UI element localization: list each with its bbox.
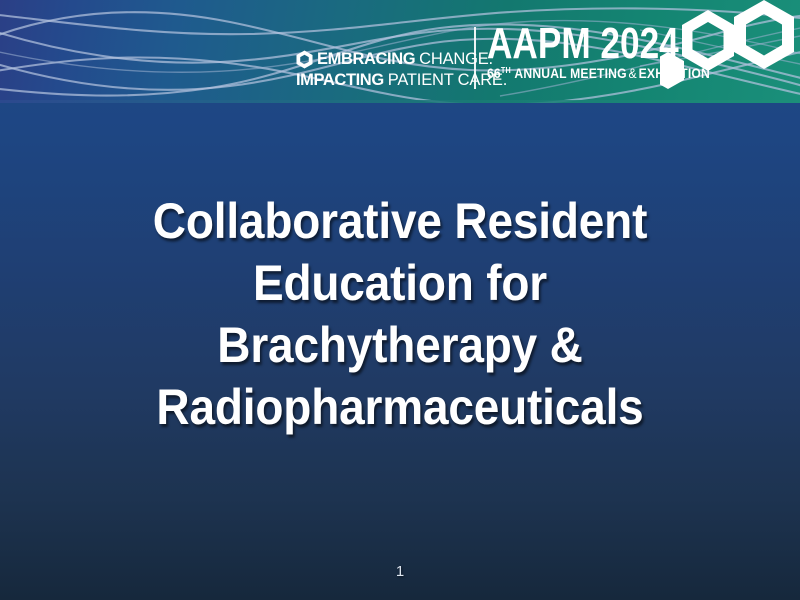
hexagon-icon — [296, 50, 313, 69]
tagline-line-2: IMPACTING PATIENT CARE. — [296, 72, 486, 89]
banner-tagline: EMBRACING CHANGE. IMPACTING PATIENT CARE… — [296, 50, 486, 89]
aapm-banner: EMBRACING CHANGE. IMPACTING PATIENT CARE… — [0, 0, 800, 103]
slide-title-line-3: Radiopharmaceuticals — [69, 376, 731, 438]
slide-title-line-1: Collaborative Resident Education for — [69, 190, 731, 314]
tagline-impacting: IMPACTING — [296, 72, 384, 89]
aapm-hexagons-logo-icon — [660, 0, 800, 103]
tagline-change: CHANGE. — [419, 51, 493, 68]
slide-number: 1 — [0, 563, 800, 580]
aapm-subtitle-ordinal-suffix: TH — [501, 67, 511, 75]
tagline-embracing: EMBRACING — [317, 51, 415, 68]
presentation-slide: EMBRACING CHANGE. IMPACTING PATIENT CARE… — [0, 0, 800, 600]
banner-divider — [474, 27, 476, 89]
tagline-line-1: EMBRACING CHANGE. — [296, 50, 486, 69]
slide-title: Collaborative Resident Education for Bra… — [69, 190, 731, 438]
aapm-subtitle-ampersand: & — [627, 67, 639, 81]
aapm-subtitle-ordinal: 66 — [487, 67, 501, 81]
aapm-title: AAPM 2024 — [487, 22, 685, 66]
aapm-subtitle-meeting: ANNUAL MEETING — [514, 67, 626, 81]
slide-title-line-2: Brachytherapy & — [69, 314, 731, 376]
